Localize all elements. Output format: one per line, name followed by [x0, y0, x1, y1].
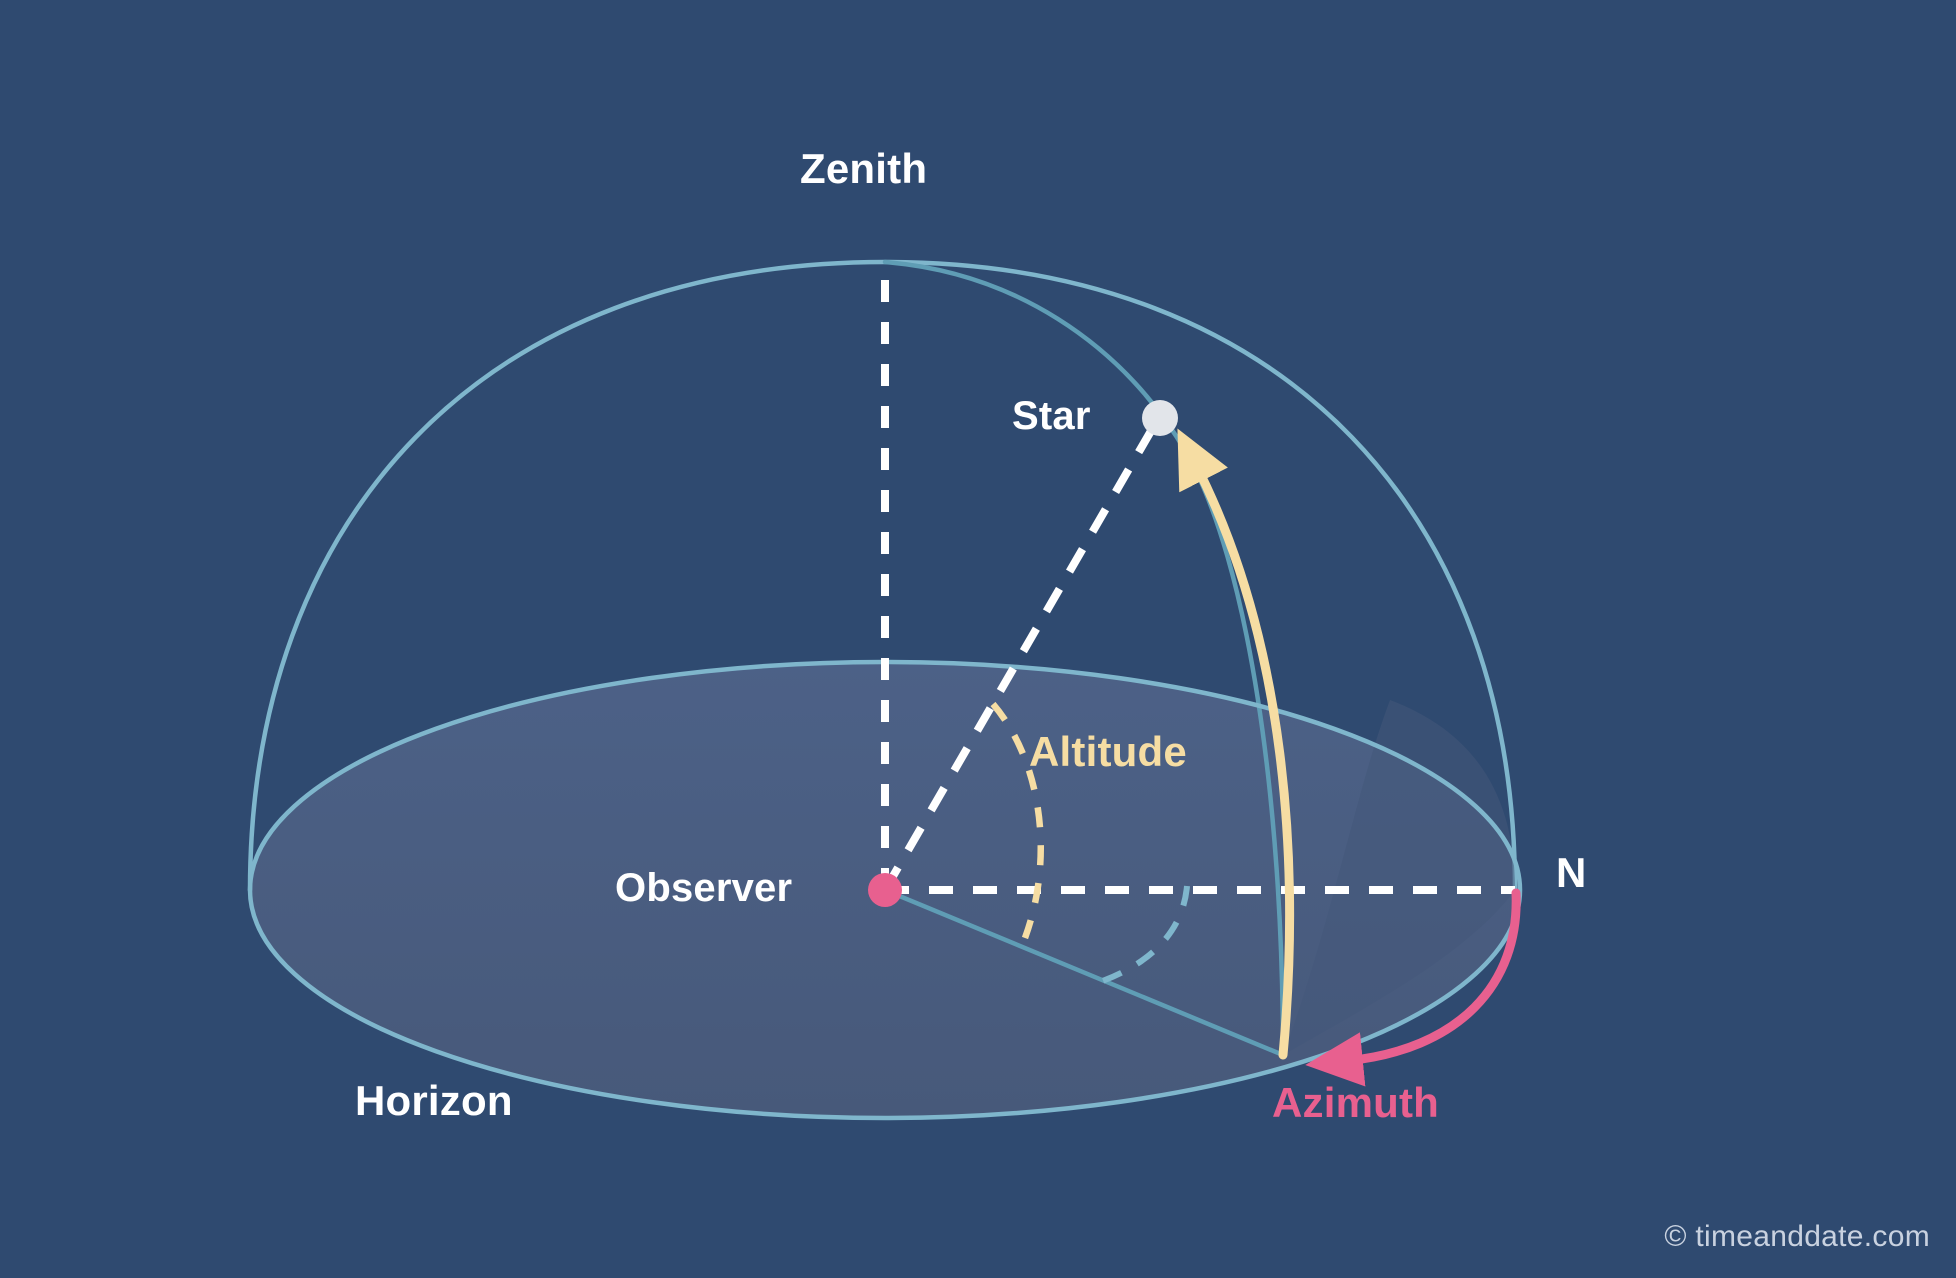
label-north-direction: N — [1556, 852, 1587, 894]
label-altitude: Altitude — [1029, 731, 1187, 773]
celestial-sphere-diagram — [0, 0, 1956, 1278]
label-horizon: Horizon — [355, 1080, 513, 1122]
star-dot — [1142, 400, 1178, 436]
observer-dot — [868, 873, 902, 907]
label-observer: Observer — [615, 868, 792, 908]
diagram-canvas: Zenith Star Observer Altitude Azimuth Ho… — [0, 0, 1956, 1278]
label-azimuth: Azimuth — [1272, 1082, 1439, 1124]
label-zenith: Zenith — [800, 148, 927, 190]
label-star: Star — [1012, 396, 1091, 436]
copyright-credit: © timeanddate.com — [1664, 1222, 1930, 1252]
